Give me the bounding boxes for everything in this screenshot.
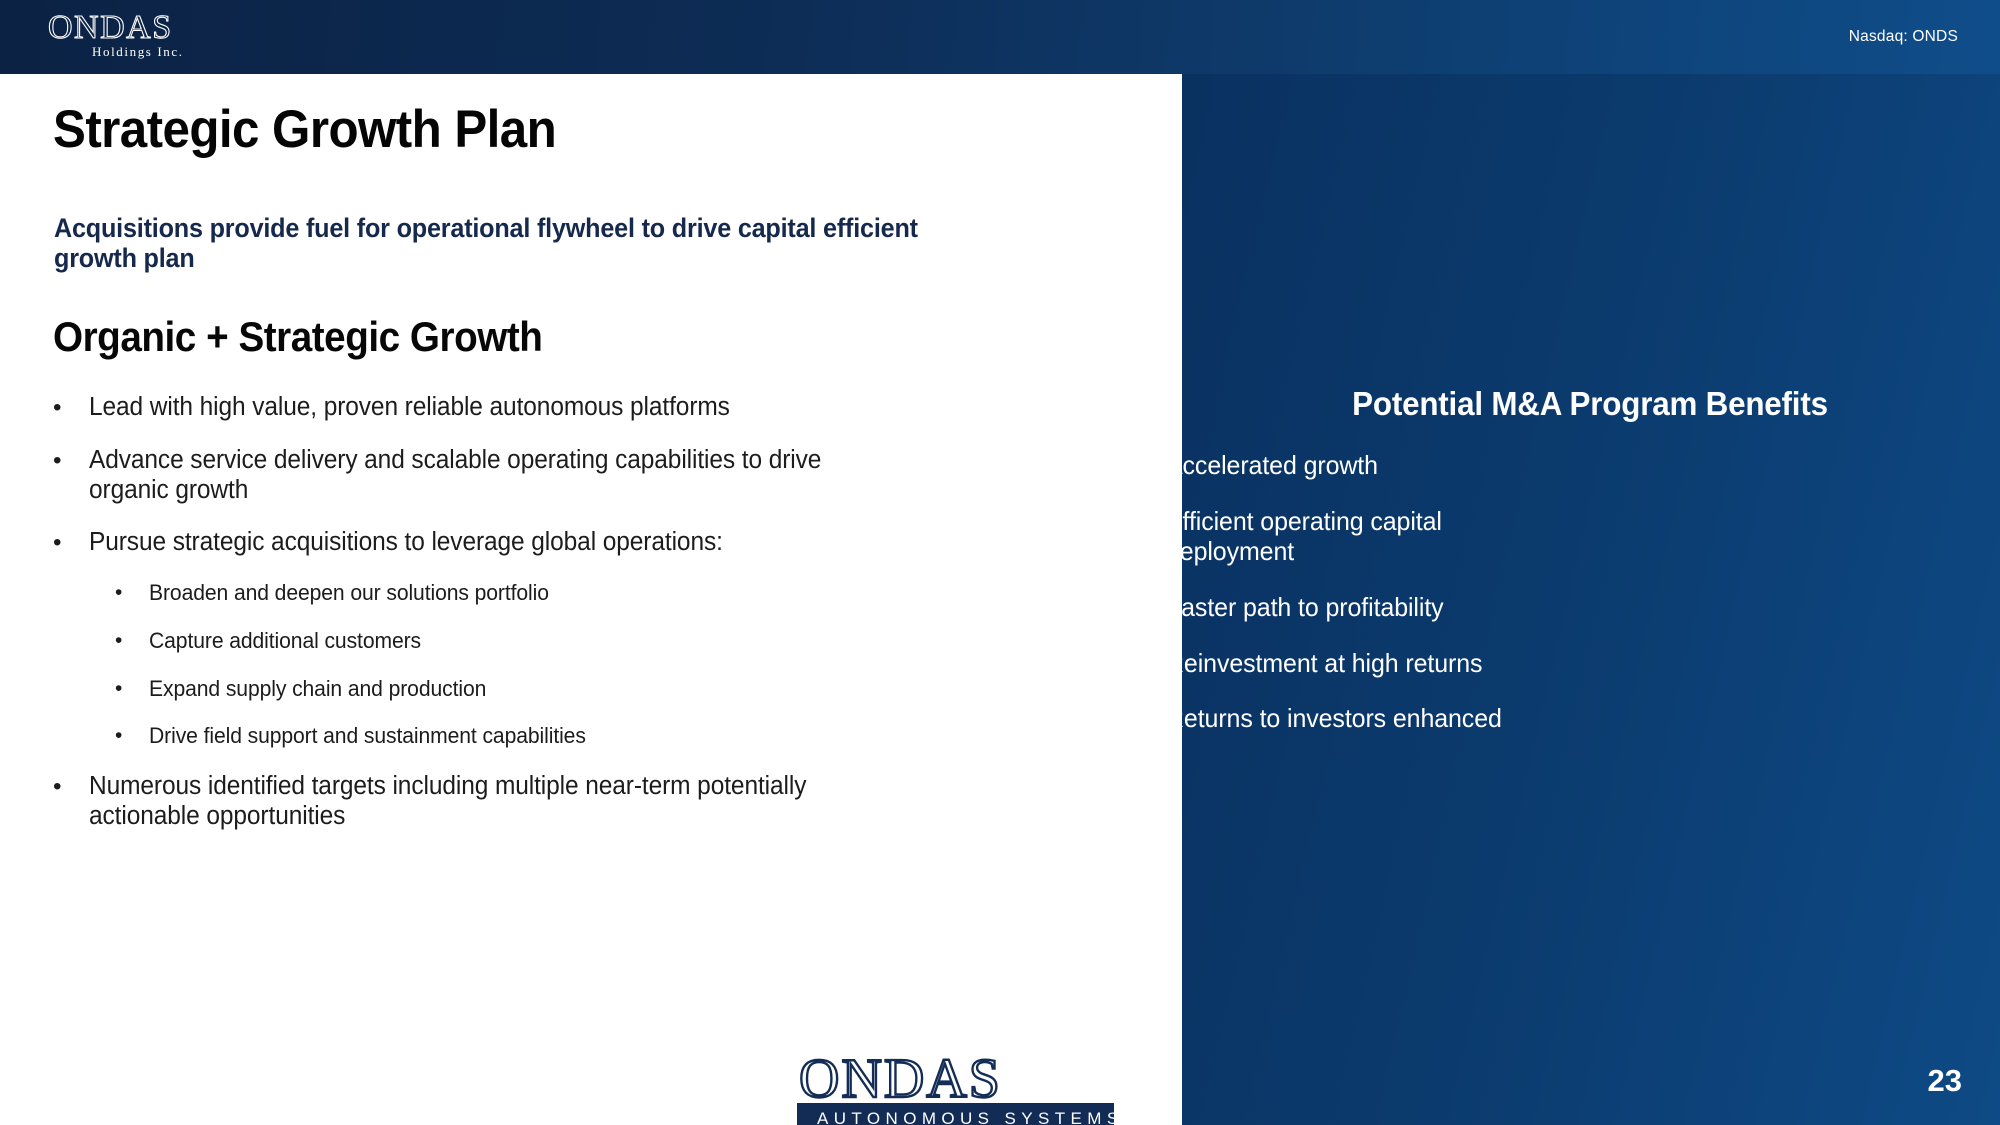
bullet-dot-icon: • [53,392,89,423]
bullet-dot-icon: • [115,580,149,607]
benefit-item: •Reinvestment at high returns [1114,648,1674,679]
page-title: Strategic Growth Plan [53,99,556,160]
bullet-label: Broaden and deepen our solutions portfol… [149,580,879,606]
slide-root: ONDAS Holdings Inc. Nasdaq: ONDS Potenti… [0,0,2000,1125]
bullet-item: •Drive field support and sustainment cap… [53,723,1073,750]
benefits-list: •Accelerated growth•Efficient operating … [1114,450,1674,759]
bullet-item: •Lead with high value, proven reliable a… [53,392,1073,423]
svg-text:ONDAS: ONDAS [48,9,173,46]
bullet-dot-icon: • [53,771,89,802]
bullet-label: Expand supply chain and production [149,676,879,702]
bullet-label: Capture additional customers [149,628,879,654]
bullet-label: Lead with high value, proven reliable au… [89,392,857,422]
bullet-label: Drive field support and sustainment capa… [149,723,879,749]
bullet-dot-icon: • [115,723,149,750]
svg-text:ONDAS: ONDAS [799,1049,1002,1110]
bullet-dot-icon: • [115,628,149,655]
ondas-holdings-logo: ONDAS Holdings Inc. [48,8,248,66]
benefit-label: Reinvestment at high returns [1166,648,1550,679]
ondas-autonomous-systems-logo: ONDAS AUTONOMOUS SYSTEMS [797,1049,1114,1125]
bullet-item: •Advance service delivery and scalable o… [53,445,1073,505]
benefit-label: Efficient operating capital deployment [1166,506,1550,567]
bullet-item: •Numerous identified targets including m… [53,771,1073,831]
benefit-label: Returns to investors enhanced [1166,703,1550,734]
benefits-panel: Potential M&A Program Benefits •Accelera… [1182,0,2000,1125]
bullet-dot-icon: • [53,445,89,476]
bullet-label: Pursue strategic acquisitions to leverag… [89,527,857,557]
bullet-label: Numerous identified targets including mu… [89,771,857,831]
page-subtitle: Acquisitions provide fuel for operationa… [54,213,928,273]
nasdaq-ticker: Nasdaq: ONDS [1849,28,1958,46]
bullet-item: •Capture additional customers [53,628,1073,655]
benefit-item: •Returns to investors enhanced [1114,703,1674,734]
benefit-item: •Efficient operating capital deployment [1114,506,1674,567]
content-panel: Strategic Growth Plan Acquisitions provi… [0,74,1182,1125]
slide-header-bar: ONDAS Holdings Inc. Nasdaq: ONDS [0,0,2000,74]
benefit-item: •Accelerated growth [1114,450,1674,481]
page-number: 23 [1928,1063,1962,1099]
bullet-item: •Expand supply chain and production [53,676,1073,703]
bullet-label: Advance service delivery and scalable op… [89,445,857,505]
benefit-label: Faster path to profitability [1166,592,1550,623]
benefit-label: Accelerated growth [1166,450,1550,481]
svg-text:AUTONOMOUS SYSTEMS: AUTONOMOUS SYSTEMS [817,1109,1114,1125]
benefits-panel-heading: Potential M&A Program Benefits [1134,385,2000,423]
svg-text:Holdings Inc.: Holdings Inc. [92,44,184,59]
bullet-dot-icon: • [115,676,149,703]
benefit-item: •Faster path to profitability [1114,592,1674,623]
growth-bullet-list: •Lead with high value, proven reliable a… [53,392,1073,853]
bullet-item: •Pursue strategic acquisitions to levera… [53,527,1073,558]
bullet-dot-icon: • [53,527,89,558]
bullet-item: •Broaden and deepen our solutions portfo… [53,580,1073,607]
section-heading: Organic + Strategic Growth [53,313,542,361]
